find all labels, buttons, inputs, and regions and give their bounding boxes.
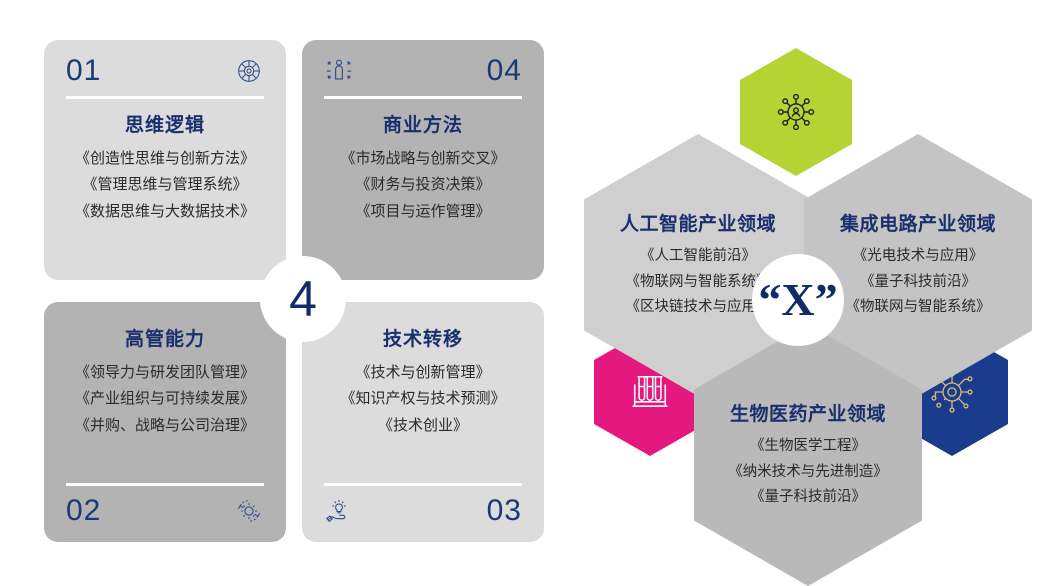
- industry-title: 人工智能产业领域: [620, 209, 776, 236]
- hexagon-content: 集成电路产业领域 《光电技术与应用》 《量子科技前沿》 《物联网与智能系统》: [834, 209, 1002, 321]
- card-divider: [324, 483, 522, 486]
- course-item: 《市场战略与创新交叉》: [310, 146, 536, 172]
- course-item: 《创造性思维与创新方法》: [52, 146, 278, 172]
- accent-hexagon-green: [740, 48, 852, 176]
- course-item: 《生物医学工程》: [728, 434, 888, 460]
- card-divider: [66, 483, 264, 486]
- card-number: 02: [66, 496, 101, 526]
- industry-hexagon-cluster: 人工智能产业领域 《人工智能前沿》 《物联网与智能系统》 《区块链技术与应用》 …: [576, 30, 1046, 550]
- course-item: 《项目与运作管理》: [310, 199, 536, 225]
- course-item: 《产业组织与可持续发展》: [52, 386, 278, 412]
- course-item: 《领导力与研发团队管理》: [52, 360, 278, 386]
- capability-card-03[interactable]: 技术转移 《技术与创新管理》 《知识产权与技术预测》 《技术创业》 03: [302, 302, 544, 542]
- industry-title: 生物医药产业领域: [728, 399, 888, 426]
- capability-card-04[interactable]: 04 商业方法 《市场战略与创新交叉》 《财务与投资决策》 《项目与运作管理》: [302, 40, 544, 280]
- card-title: 高管能力: [52, 324, 278, 351]
- four-capability-quadrant: 01 思维逻辑 《创造性思维与创新方法》 《管理思维与管理系统》 《数据思维与大…: [44, 40, 544, 542]
- card-header: 04: [324, 52, 522, 90]
- card-title: 商业方法: [310, 110, 536, 137]
- course-item: 《并购、战略与公司治理》: [52, 413, 278, 439]
- center-badge-x-label: “X”: [758, 277, 837, 323]
- course-item: 《财务与投资决策》: [310, 172, 536, 198]
- card-number: 03: [487, 496, 522, 526]
- course-item: 《知识产权与技术预测》: [310, 386, 536, 412]
- course-item: 《纳米技术与先进制造》: [728, 460, 888, 486]
- card-body: 高管能力 《领导力与研发团队管理》 《产业组织与可持续发展》 《并购、战略与公司…: [52, 324, 278, 439]
- gear-refresh-icon: [234, 496, 264, 526]
- card-number: 04: [487, 56, 522, 86]
- card-footer: 03: [324, 492, 522, 530]
- card-body: 技术转移 《技术与创新管理》 《知识产权与技术预测》 《技术创业》: [310, 324, 536, 439]
- capability-card-02[interactable]: 高管能力 《领导力与研发团队管理》 《产业组织与可持续发展》 《并购、战略与公司…: [44, 302, 286, 542]
- card-divider: [66, 96, 264, 99]
- center-badge-x: “X”: [752, 254, 844, 346]
- course-item: 《量子科技前沿》: [840, 270, 996, 296]
- card-divider: [324, 96, 522, 99]
- capability-card-01[interactable]: 01 思维逻辑 《创造性思维与创新方法》 《管理思维与管理系统》 《数据思维与大…: [44, 40, 286, 280]
- card-number: 01: [66, 56, 101, 86]
- course-item: 《管理思维与管理系统》: [52, 172, 278, 198]
- card-title: 技术转移: [310, 324, 536, 351]
- person-expand-icon: [324, 56, 354, 86]
- center-badge-four: 4: [260, 256, 346, 342]
- brain-icon: [234, 56, 264, 86]
- card-footer: 02: [66, 492, 264, 530]
- course-item: 《光电技术与应用》: [840, 244, 996, 270]
- hexagon-content: 生物医药产业领域 《生物医学工程》 《纳米技术与先进制造》 《量子科技前沿》: [722, 399, 894, 511]
- course-item: 《物联网与智能系统》: [840, 295, 996, 321]
- card-body: 商业方法 《市场战略与创新交叉》 《财务与投资决策》 《项目与运作管理》: [310, 110, 536, 225]
- hand-lightbulb-icon: [324, 496, 354, 526]
- industry-title: 集成电路产业领域: [840, 209, 996, 236]
- card-title: 思维逻辑: [52, 110, 278, 137]
- course-item: 《人工智能前沿》: [620, 244, 776, 270]
- center-badge-four-label: 4: [289, 274, 317, 324]
- course-item: 《量子科技前沿》: [728, 485, 888, 511]
- card-header: 01: [66, 52, 264, 90]
- people-network-icon: [773, 89, 819, 135]
- course-item: 《技术创业》: [310, 413, 536, 439]
- course-item: 《技术与创新管理》: [310, 360, 536, 386]
- card-body: 思维逻辑 《创造性思维与创新方法》 《管理思维与管理系统》 《数据思维与大数据技…: [52, 110, 278, 225]
- course-item: 《数据思维与大数据技术》: [52, 199, 278, 225]
